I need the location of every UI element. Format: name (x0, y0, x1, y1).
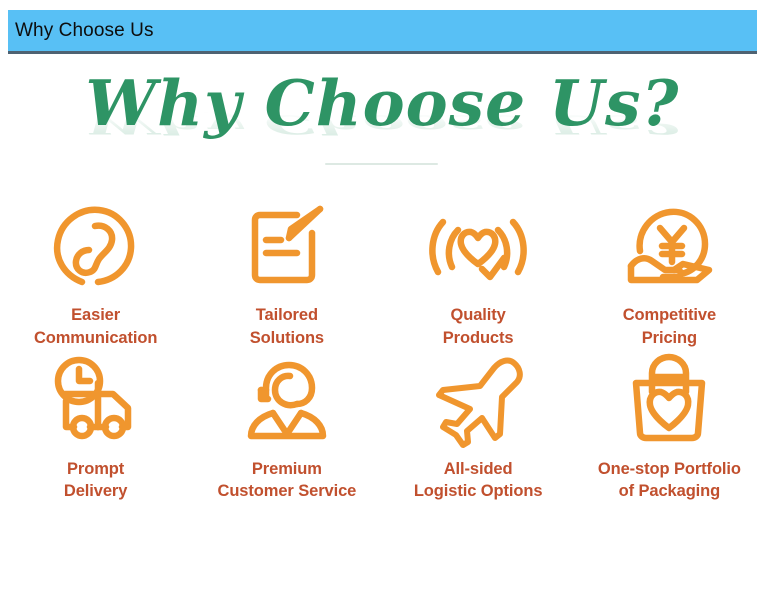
feature-label: One-stop Portfolio of Packaging (598, 458, 741, 504)
feature-label: Premium Customer Service (218, 458, 357, 504)
feature-label: Quality Products (443, 304, 514, 350)
feature-card-all-sided-logistic-options[interactable]: All-sided Logistic Options (383, 350, 574, 504)
feature-card-premium-customer-service[interactable]: Premium Customer Service (191, 350, 382, 504)
hand-holding-coin-icon (619, 196, 719, 296)
feature-card-tailored-solutions[interactable]: Tailored Solutions (191, 196, 382, 350)
heart-check-waves-icon (428, 196, 528, 296)
feature-label: Easier Communication (34, 304, 157, 350)
feature-label: Tailored Solutions (250, 304, 324, 350)
feature-grid: Easier Communication Tailored Solutions (0, 196, 765, 503)
headline-section: Why Choose Us? Why Choose Us? (0, 60, 765, 170)
feature-card-one-stop-portfolio-of-packaging[interactable]: One-stop Portfolio of Packaging (574, 350, 765, 504)
document-pencil-icon (237, 196, 337, 296)
shopping-bag-heart-icon (619, 350, 719, 450)
ear-listening-icon (46, 196, 146, 296)
airplane-icon (428, 350, 528, 450)
feature-card-quality-products[interactable]: Quality Products (383, 196, 574, 350)
headline-divider (325, 163, 438, 165)
truck-clock-icon (46, 350, 146, 450)
page-title: Why Choose Us? (86, 60, 680, 135)
feature-label: Prompt Delivery (64, 458, 127, 504)
feature-card-prompt-delivery[interactable]: Prompt Delivery (0, 350, 191, 504)
feature-label: All-sided Logistic Options (414, 458, 543, 504)
headset-agent-icon (237, 350, 337, 450)
feature-card-competitive-pricing[interactable]: Competitive Pricing (574, 196, 765, 350)
window-title: Why Choose Us (8, 21, 154, 40)
feature-label: Competitive Pricing (623, 304, 716, 350)
feature-card-easier-communication[interactable]: Easier Communication (0, 196, 191, 350)
window-title-bar: Why Choose Us (8, 10, 757, 54)
